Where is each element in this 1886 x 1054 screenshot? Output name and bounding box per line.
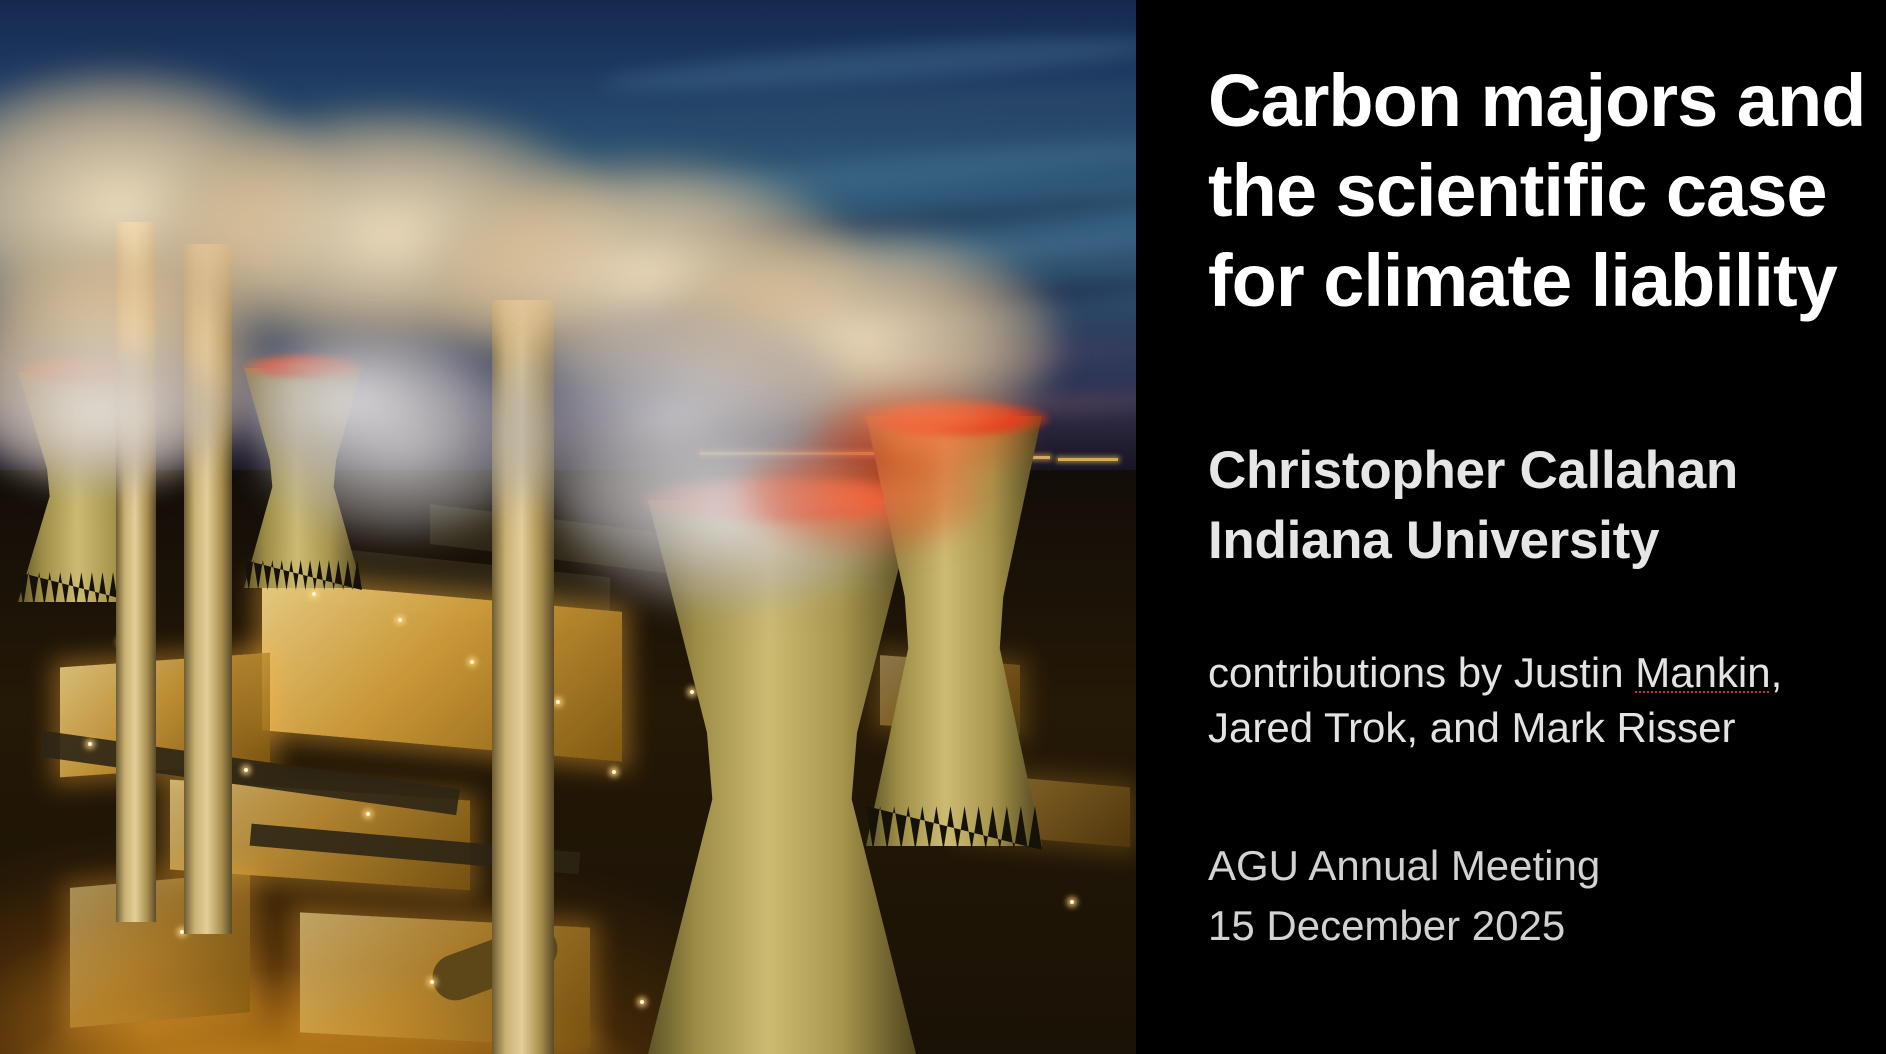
contributions-suffix: , [1771,649,1783,696]
presentation-slide: Carbon majors and the scientific case fo… [0,0,1886,1054]
plant-light [398,618,402,622]
slide-title-line-3: for climate liability [1208,236,1848,326]
slide-title-line-2: the scientific case [1208,146,1848,236]
author-affiliation: Indiana University [1208,506,1848,576]
plant-building [262,580,622,761]
plant-light [612,770,616,774]
plant-light [690,690,694,694]
author-name: Christopher Callahan [1208,436,1848,506]
smoke-plume [232,330,472,470]
slide-title[interactable]: Carbon majors and the scientific case fo… [1208,56,1848,326]
spellcheck-underlined-word: Mankin [1635,649,1770,696]
photo-stage [0,0,1136,1054]
contributions-prefix: contributions by Justin [1208,649,1635,696]
plant-light [1070,900,1074,904]
author-block[interactable]: Christopher Callahan Indiana University [1208,436,1848,576]
smoke-plume-lit [810,390,1030,480]
contributions-block[interactable]: contributions by Justin Mankin, Jared Tr… [1208,645,1848,755]
plant-light [366,812,370,816]
slide-title-line-1: Carbon majors and [1208,56,1848,146]
plant-light [312,592,316,596]
title-slide-photo [0,0,1136,1054]
plant-light [556,700,560,704]
plant-light [244,768,248,772]
plant-light [640,1000,644,1004]
slide-text-panel: Carbon majors and the scientific case fo… [1136,0,1886,1054]
contributions-line-1: contributions by Justin Mankin, [1208,645,1848,700]
meeting-date: 15 December 2025 [1208,896,1848,956]
plant-light [430,980,434,984]
contributions-line-2: Jared Trok, and Mark Risser [1208,700,1848,755]
plant-light [470,660,474,664]
meeting-name: AGU Annual Meeting [1208,836,1848,896]
meeting-block[interactable]: AGU Annual Meeting 15 December 2025 [1208,836,1848,956]
distant-city-lights [1058,458,1118,461]
plant-light [88,742,92,746]
